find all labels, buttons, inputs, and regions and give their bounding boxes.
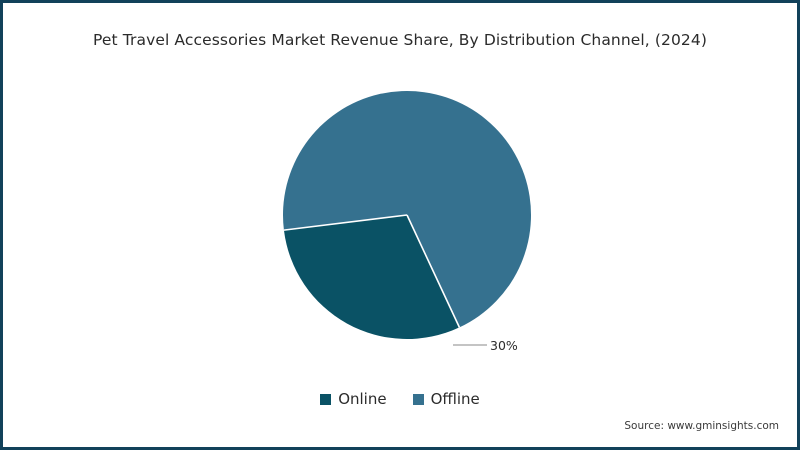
slice-label-online: 30% (490, 338, 518, 353)
legend-item-online[interactable]: Online (320, 392, 386, 407)
legend-label-online: Online (338, 392, 386, 407)
legend-item-offline[interactable]: Offline (413, 392, 480, 407)
chart-legend: Online Offline (3, 392, 797, 407)
legend-swatch-online-icon (320, 394, 331, 405)
source-attribution: Source: www.gminsights.com (624, 420, 779, 432)
legend-swatch-offline-icon (413, 394, 424, 405)
pie-chart: 30% (283, 91, 531, 339)
page-title: Pet Travel Accessories Market Revenue Sh… (3, 31, 797, 49)
pie-label-layer: 30% (283, 91, 531, 339)
legend-label-offline: Offline (431, 392, 480, 407)
chart-card: Pet Travel Accessories Market Revenue Sh… (0, 0, 800, 450)
